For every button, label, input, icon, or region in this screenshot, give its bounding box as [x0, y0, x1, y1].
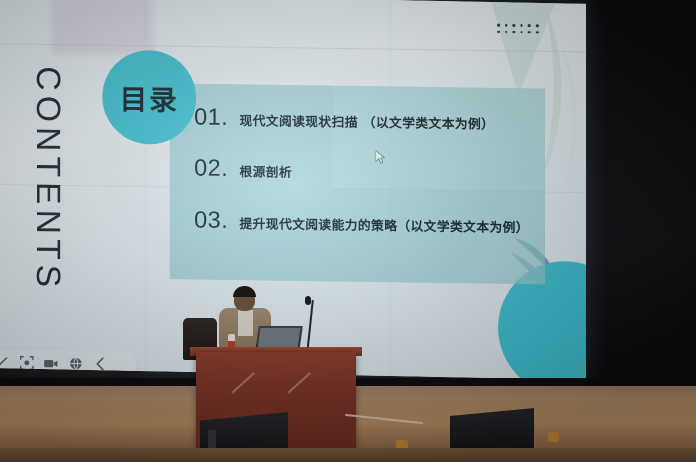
microphone-head: [305, 296, 311, 305]
pen-icon[interactable]: [0, 355, 9, 371]
dot-grid-decoration: [497, 24, 538, 34]
presenter-glasses: [235, 296, 254, 302]
projection-screen: CONTENTS 目录 01. 现代文阅读现状扫描 （以文学类文本为例） 02.…: [0, 0, 586, 380]
mouse-pointer: [376, 150, 385, 163]
focus-frame-icon[interactable]: [19, 355, 34, 371]
floor-monitor-grill: [208, 430, 216, 450]
agenda-number: 01.: [194, 103, 228, 131]
stage-light-fixture: [548, 432, 559, 442]
agenda-number: 02.: [194, 154, 228, 182]
agenda-number: 03.: [194, 206, 228, 234]
back-chevron-icon[interactable]: [92, 356, 107, 372]
mulu-badge: 目录: [102, 50, 196, 145]
mulu-badge-label: 目录: [120, 77, 179, 118]
screenshot-root: CONTENTS 目录 01. 现代文阅读现状扫描 （以文学类文本为例） 02.…: [0, 0, 696, 462]
agenda-item-02: 02. 根源剖析: [194, 154, 292, 183]
agenda-text: 现代文阅读现状扫描 （以文学类文本为例）: [239, 110, 494, 133]
presenter-shirt: [238, 310, 253, 336]
agenda-item-01: 01. 现代文阅读现状扫描 （以文学类文本为例）: [194, 103, 494, 135]
panel-highlight: [333, 86, 545, 191]
presentation-slide: CONTENTS 目录 01. 现代文阅读现状扫描 （以文学类文本为例） 02.…: [0, 0, 586, 380]
agenda-text: 提升现代文阅读能力的策略（以文学类文本为例）: [239, 213, 528, 236]
globe-icon[interactable]: [68, 356, 83, 372]
video-camera-icon[interactable]: [43, 355, 58, 371]
stage-front-edge: [0, 448, 696, 462]
agenda-item-03: 03. 提升现代文阅读能力的策略（以文学类文本为例）: [194, 206, 529, 238]
contents-vertical-label: CONTENTS: [29, 66, 68, 301]
lavender-wash: [51, 0, 153, 56]
laptop-screen: [258, 328, 301, 348]
agenda-text: 根源剖析: [239, 161, 292, 181]
